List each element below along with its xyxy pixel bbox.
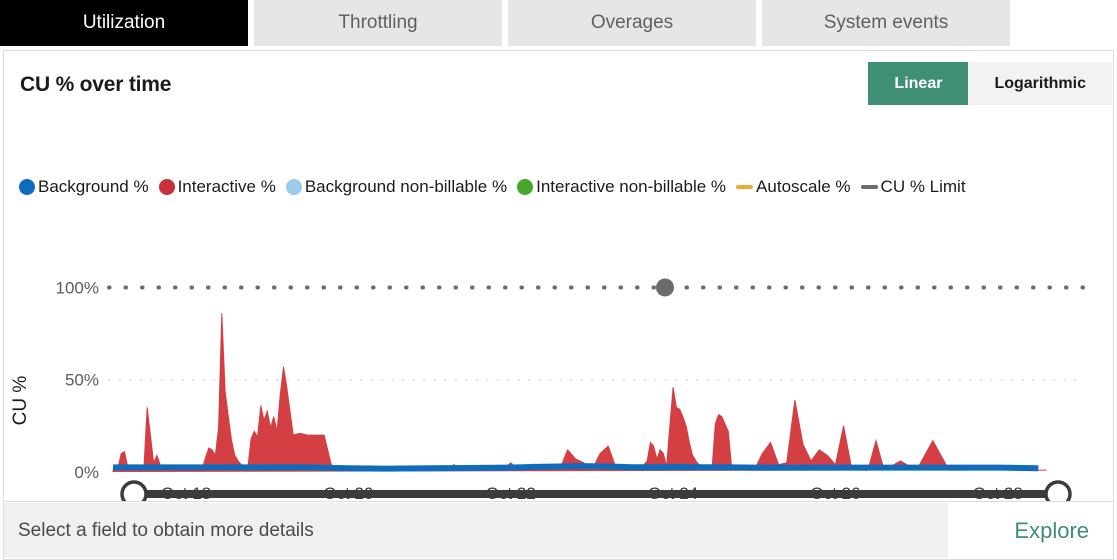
tab-throttling-label: Throttling	[338, 12, 417, 34]
legend-line-icon	[736, 185, 753, 189]
chart-hover-marker[interactable]	[656, 278, 674, 296]
tab-utilization-label: Utilization	[83, 12, 165, 34]
legend-item-label: Background %	[38, 177, 149, 197]
detail-hint-text: Select a field to obtain more details	[18, 520, 314, 542]
range-slider-left-handle[interactable]	[122, 482, 146, 501]
legend-dot-icon	[286, 179, 302, 195]
legend-item[interactable]: Autoscale %	[736, 177, 851, 197]
legend-item-label: CU % Limit	[881, 177, 966, 197]
tab-system-events[interactable]: System events	[762, 0, 1010, 46]
legend-dot-icon	[159, 179, 175, 195]
tab-throttling[interactable]: Throttling	[254, 0, 502, 46]
chart-legend: Background %Interactive %Background non-…	[19, 177, 976, 197]
tab-system-events-label: System events	[824, 12, 949, 34]
legend-item[interactable]: Interactive %	[159, 177, 276, 197]
logarithmic-scale-label: Logarithmic	[994, 75, 1086, 93]
chart-card: CU % over time Linear Logarithmic Backgr…	[3, 50, 1114, 502]
legend-item[interactable]: Background non-billable %	[286, 177, 507, 197]
tab-utilization[interactable]: Utilization	[0, 0, 248, 46]
tab-overages-label: Overages	[591, 12, 673, 34]
legend-item[interactable]: Interactive non-billable %	[517, 177, 726, 197]
legend-line-icon	[861, 185, 878, 189]
series-background-line	[113, 466, 1079, 469]
legend-item[interactable]: CU % Limit	[861, 177, 966, 197]
legend-item-label: Interactive %	[178, 177, 276, 197]
page-title: CU % over time	[20, 73, 171, 97]
logarithmic-scale-button[interactable]: Logarithmic	[968, 62, 1112, 105]
legend-item-label: Interactive non-billable %	[536, 177, 726, 197]
legend-item-label: Background non-billable %	[305, 177, 507, 197]
legend-dot-icon	[517, 179, 533, 195]
legend-dot-icon	[19, 179, 35, 195]
legend-item[interactable]: Background %	[19, 177, 149, 197]
scale-toggle-group: Linear Logarithmic	[868, 62, 1112, 105]
explore-button[interactable]: Explore	[1014, 503, 1089, 558]
detail-bar: Select a field to obtain more details Ex…	[3, 503, 1114, 560]
series-interactive-area	[113, 313, 1046, 472]
detail-panel: Select a field to obtain more details	[4, 503, 948, 558]
linear-scale-button[interactable]: Linear	[868, 62, 968, 105]
chart-plot-area: CU %0%50%100%Oct 18Oct 20Oct 22Oct 24Oct…	[4, 211, 1113, 501]
y-axis-tick-label: 0%	[74, 463, 99, 482]
explore-label: Explore	[1014, 518, 1089, 544]
legend-item-label: Autoscale %	[756, 177, 851, 197]
cu-over-time-chart[interactable]: CU %0%50%100%Oct 18Oct 20Oct 22Oct 24Oct…	[4, 211, 1113, 501]
y-axis-tick-label: 100%	[56, 278, 99, 297]
range-slider-right-handle[interactable]	[1046, 482, 1070, 501]
tab-overages[interactable]: Overages	[508, 0, 756, 46]
tab-strip: Utilization Throttling Overages System e…	[0, 0, 1117, 46]
y-axis-tick-label: 50%	[65, 371, 99, 390]
linear-scale-label: Linear	[894, 75, 942, 93]
y-axis-title: CU %	[10, 376, 31, 426]
